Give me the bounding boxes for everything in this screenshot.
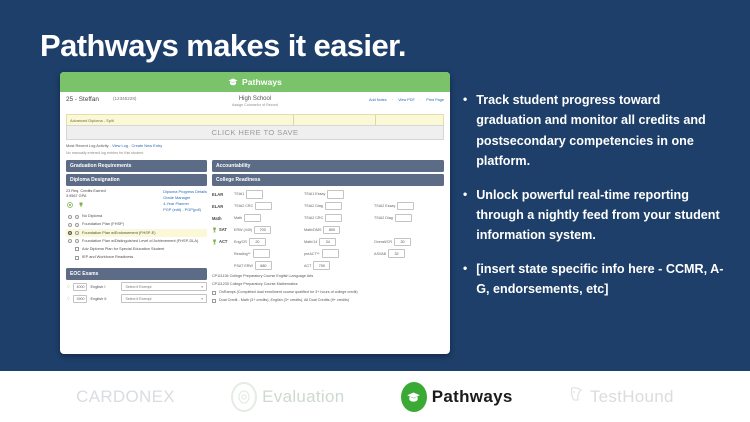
checkbox-icon[interactable] [75, 247, 79, 251]
eoc-row: ♢ 3900 English II Select if Exempt ▾ [66, 294, 207, 303]
bullet-item: • Unlock powerful real-time reporting th… [463, 185, 725, 246]
score-input[interactable]: 800 [323, 226, 340, 235]
test-field: ERW (440)700 [234, 226, 304, 235]
score-input[interactable]: 34 [319, 238, 336, 247]
test-name: ELAR [212, 192, 234, 197]
score-input[interactable]: 30 [394, 238, 411, 247]
checkbox-icon[interactable] [212, 291, 216, 295]
field-label: TSIA2 Diag [304, 204, 323, 208]
cp-course-line: CP111230 College Preparatory Course Math… [212, 281, 444, 287]
score-input[interactable] [322, 249, 339, 258]
field-label: PSAT ERW [234, 264, 253, 268]
test-field: Math/DMS800 [304, 226, 374, 235]
cp-course-line: CP111136 College Preparatory Course Engl… [212, 273, 444, 279]
trophy-icon: ♢ [66, 284, 70, 290]
log-empty-note: No manually entered log entries for this… [66, 151, 444, 155]
diploma-checkbox-label: IEP and Workforce Readiness [82, 255, 133, 260]
status-icon-row [67, 202, 106, 211]
recent-log-label: Most Recent Log Activity [66, 143, 109, 148]
top-links: Add Notes · View PDF · Print Page [365, 98, 444, 102]
test-field: Math [234, 214, 304, 223]
field-label: Math/DMS [304, 228, 321, 232]
field-label: ERW (440) [234, 228, 252, 232]
view-pdf-link[interactable]: View PDF [398, 98, 415, 102]
student-name: 25 - Steffan [66, 96, 99, 103]
print-page-link[interactable]: Print Page [426, 98, 444, 102]
app-brand-label: Pathways [242, 77, 282, 87]
test-row: ELAR TSIA1 TSIA1 Essay [212, 190, 444, 199]
test-name: ELAR [212, 204, 234, 209]
field-label: Overall/CR [374, 240, 392, 244]
link-sep: · [420, 98, 421, 102]
bullet-text: Track student progress toward graduation… [476, 90, 725, 172]
score-input[interactable]: 680 [255, 261, 272, 270]
field-label: TSIA1 [234, 192, 244, 196]
page-title: Pathways makes it easier. [40, 28, 406, 64]
diploma-checkbox-row[interactable]: IEP and Workforce Readiness [66, 254, 207, 262]
student-header-row: 25 - Steffan (12345228) High School Assi… [66, 96, 444, 114]
test-field: TSIA2 Diag [374, 214, 444, 223]
bullet-item: • [insert state specific info here - CCM… [463, 259, 725, 300]
field-label: Math [234, 216, 242, 220]
logo-evaluation: Evaluation [231, 382, 344, 412]
score-input[interactable]: 20 [249, 238, 266, 247]
field-label: ACT [304, 264, 311, 268]
score-input[interactable] [244, 214, 261, 223]
diploma-option[interactable]: Foundation Plan (FHSP) [66, 221, 207, 229]
score-input[interactable] [253, 249, 270, 258]
evaluation-mark-icon [231, 382, 257, 412]
eoc-exempt-value: Select if Exempt [125, 297, 151, 301]
field-label: Reading** [234, 252, 251, 256]
radio-icon[interactable] [68, 223, 72, 227]
trophy-icon [78, 202, 84, 211]
field-label: TSIA2 CRC [234, 204, 253, 208]
diploma-option-label: Foundation Plan w/Endorsement (FHSP-E) [82, 231, 156, 236]
eoc-exempt-select[interactable]: Select if Exempt ▾ [121, 294, 207, 303]
eoc-subject-label: English I [90, 284, 118, 289]
diploma-option-selected[interactable]: Foundation Plan w/Endorsement (FHSP-E) [66, 229, 207, 237]
radio-icon-secondary[interactable] [75, 239, 79, 243]
trophy-icon: ♢ [66, 296, 70, 302]
pgp-links[interactable]: PGP (edit) - PGP(pdf) [163, 207, 207, 213]
diploma-progress-details-link[interactable]: Diploma Progress Details [163, 189, 207, 195]
radio-icon-secondary[interactable] [75, 223, 79, 227]
chevron-down-icon: ▾ [201, 285, 203, 289]
app-header-bar: Pathways [60, 72, 450, 92]
score-input[interactable]: 700 [313, 261, 330, 270]
test-field: preACT** [304, 249, 374, 258]
field-label: Eng/CR [234, 240, 247, 244]
test-row-sat: SAT ERW (440)700 Math/DMS800 [212, 226, 444, 235]
hound-icon [569, 385, 585, 408]
score-input[interactable]: 32 [388, 249, 405, 258]
field-label: ASVAB [374, 252, 386, 256]
logo-evaluation-label: Evaluation [262, 387, 344, 407]
diploma-options-list: No Diploma Foundation Plan (FHSP) Founda… [66, 213, 207, 262]
right-column: Accountability College Readiness ELAR TS… [212, 160, 444, 307]
test-field: TSIA2 Essay [374, 202, 444, 211]
eoc-score-input[interactable]: 4000 [73, 283, 87, 291]
onramps-checkbox-row[interactable]: OnRamps (Completed dual enrollment cours… [212, 290, 444, 295]
eoc-subject-label: English II [90, 296, 118, 301]
field-label: TSIA1 Essay [304, 192, 325, 196]
test-field: TSIA2 Diag [304, 202, 374, 211]
diploma-option-label: Foundation Plan (FHSP) [82, 222, 124, 227]
score-input[interactable] [255, 202, 272, 211]
test-name-act: ACT [212, 239, 234, 245]
section-college-readiness[interactable]: College Readiness [212, 174, 444, 186]
diploma-strip-label: Advanced Diploma - Split [70, 118, 114, 123]
test-field: Reading** [234, 249, 304, 258]
dual-credit-label: Dual Credit - Math (3+ credits), English… [219, 298, 349, 302]
eoc-row: ♢ 4000 English I Select if Exempt ▾ [66, 282, 207, 291]
test-name-sat: SAT [212, 227, 234, 233]
score-input[interactable] [325, 214, 342, 223]
test-name: Math [212, 216, 234, 221]
logo-pathways: Pathways [401, 382, 513, 412]
radio-icon-selected[interactable] [68, 231, 72, 235]
strip-divider [293, 115, 294, 125]
test-scores-table: ELAR TSIA1 TSIA1 Essay ELAR TSIA2 CRC TS… [212, 190, 444, 270]
score-input[interactable] [397, 202, 414, 211]
radio-icon-secondary[interactable] [75, 215, 79, 219]
bullet-dot-icon: • [463, 90, 467, 172]
logo-testhound: TestHound [569, 385, 674, 408]
logo-pathways-label: Pathways [432, 387, 513, 407]
left-column: Graduation Requirements Diploma Designat… [66, 160, 207, 307]
test-field: ASVAB32 [374, 249, 444, 258]
field-label: TSIA2 Essay [374, 204, 395, 208]
app-screenshot-card: Pathways 25 - Steffan (12345228) High Sc… [60, 72, 450, 354]
section-graduation-requirements[interactable]: Graduation Requirements [66, 160, 207, 172]
slide-body: Pathways makes it easier. Pathways 25 - … [0, 0, 750, 371]
checkbox-icon[interactable] [75, 256, 79, 260]
add-notes-link[interactable]: Add Notes [369, 98, 387, 102]
test-field: TSIA2 CRC [304, 214, 374, 223]
counselor-label: Assign Counselor of Record [232, 103, 278, 107]
test-field: Eng/CR20 [234, 238, 304, 247]
diploma-checkbox-row[interactable]: Adv Diploma Plan for Special Education S… [66, 245, 207, 253]
pathways-mark-icon [401, 382, 427, 412]
test-field: TSIA1 [234, 190, 304, 199]
strip-divider [375, 115, 376, 125]
bullet-text: [insert state specific info here - CCMR,… [476, 259, 725, 300]
score-input[interactable] [325, 202, 342, 211]
section-eoc-exams[interactable]: EOC Exams [66, 268, 207, 280]
bullet-text: Unlock powerful real-time reporting thro… [476, 185, 725, 246]
test-field: Overall/CR30 [374, 238, 444, 247]
diploma-links: Diploma Progress Details Grade Manager 4… [163, 189, 207, 213]
section-diploma-designation[interactable]: Diploma Designation [66, 174, 207, 186]
eoc-score-input[interactable]: 3900 [73, 295, 87, 303]
test-row: Reading** preACT** ASVAB32 [212, 249, 444, 258]
score-input[interactable]: 700 [254, 226, 271, 235]
diploma-checkbox-label: Adv Diploma Plan for Special Education S… [82, 247, 164, 252]
bullet-dot-icon: • [463, 185, 467, 246]
field-label: Math/14 [304, 240, 317, 244]
bullet-dot-icon: • [463, 259, 467, 300]
view-log-link[interactable]: View Log [112, 143, 128, 148]
school-name: High School [239, 96, 271, 102]
chevron-down-icon: ▾ [201, 297, 203, 301]
bullet-list: • Track student progress toward graduati… [463, 90, 725, 313]
radio-icon[interactable] [68, 239, 72, 243]
footer-logo-bar: CARDONEX Evaluation Pathways TestHound [0, 371, 750, 422]
test-row: ELAR TSIA2 CRC TSIA2 Diag TSIA2 Essay [212, 202, 444, 211]
save-button[interactable]: CLICK HERE TO SAVE [66, 125, 444, 140]
score-input[interactable] [395, 214, 412, 223]
create-entry-link[interactable]: Create New Entry [132, 143, 163, 148]
logo-cardonex: CARDONEX [76, 387, 175, 407]
dual-credit-checkbox-row[interactable]: Dual Credit - Math (3+ credits), English… [212, 298, 444, 303]
checkbox-icon[interactable] [212, 299, 216, 303]
diploma-option[interactable]: No Diploma [66, 213, 207, 221]
logo-testhound-label: TestHound [590, 387, 674, 407]
score-input[interactable] [327, 190, 344, 199]
diploma-option-label: No Diploma [82, 214, 102, 219]
radio-status-icon [67, 202, 73, 211]
test-field: TSIA2 CRC [234, 202, 304, 211]
graduation-cap-icon [228, 78, 238, 86]
trophy-icon [212, 227, 217, 233]
link-sep: · [392, 98, 393, 102]
section-accountability[interactable]: Accountability [212, 160, 444, 172]
field-label: TSIA2 Diag [374, 216, 393, 220]
logo-cardonex-label: CARDONEX [76, 387, 175, 407]
test-field: ACT700 [304, 261, 374, 270]
eoc-exempt-value: Select if Exempt [125, 285, 151, 289]
diploma-option-label: Foundation Plan w/Distinguished Level of… [82, 239, 198, 244]
credits-block: 23 Req. Credits Earned 3.9567 GPA [66, 189, 106, 213]
test-field: PSAT ERW680 [234, 261, 304, 270]
test-row-act: ACT Eng/CR20 Math/1434 Overall/CR30 [212, 238, 444, 247]
onramps-label: OnRamps (Completed dual enrollment cours… [219, 290, 358, 294]
log-links-row: Most Recent Log Activity - View Log - Cr… [66, 143, 444, 148]
field-label: preACT** [304, 252, 320, 256]
radio-icon-secondary[interactable] [75, 231, 79, 235]
school-block: High School Assign Counselor of Record [232, 96, 278, 107]
gpa-value: 3.9567 GPA [66, 194, 106, 200]
student-id: (12345228) [113, 96, 137, 101]
act-label: ACT [219, 239, 227, 244]
test-field: Math/1434 [304, 238, 374, 247]
cp-course-lines: CP111136 College Preparatory Course Engl… [212, 273, 444, 287]
test-field: TSIA1 Essay [304, 190, 374, 199]
sat-label: SAT [219, 227, 227, 232]
test-row: Math Math TSIA2 CRC TSIA2 Diag [212, 214, 444, 223]
score-input[interactable] [246, 190, 263, 199]
save-button-label: CLICK HERE TO SAVE [212, 128, 299, 137]
radio-icon[interactable] [68, 215, 72, 219]
diploma-option[interactable]: Foundation Plan w/Distinguished Level of… [66, 237, 207, 245]
trophy-icon [212, 239, 217, 245]
bullet-item: • Track student progress toward graduati… [463, 90, 725, 172]
eoc-exempt-select[interactable]: Select if Exempt ▾ [121, 282, 207, 291]
diploma-strip: Advanced Diploma - Split [66, 114, 444, 125]
field-label: TSIA2 CRC [304, 216, 323, 220]
test-row: PSAT ERW680 ACT700 [212, 261, 444, 270]
